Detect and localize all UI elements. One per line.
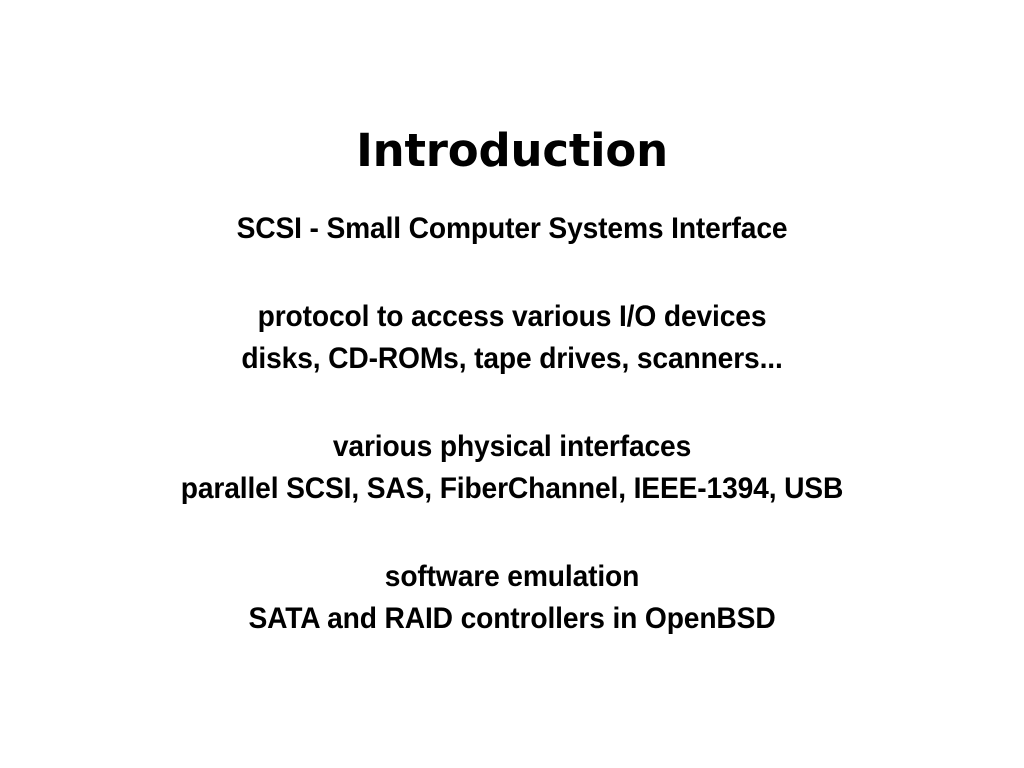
- text-block-definition: SCSI - Small Computer Systems Interface: [0, 208, 1024, 250]
- body-line: disks, CD-ROMs, tape drives, scanners...: [31, 338, 994, 380]
- body-line: SATA and RAID controllers in OpenBSD: [31, 598, 994, 640]
- text-block-software-emulation: software emulation SATA and RAID control…: [0, 556, 1024, 640]
- text-block-physical-interfaces: various physical interfaces parallel SCS…: [0, 426, 1024, 510]
- text-block-purpose: protocol to access various I/O devices d…: [0, 296, 1024, 380]
- slide-body: SCSI - Small Computer Systems Interface …: [0, 208, 1024, 640]
- presentation-slide: Introduction SCSI - Small Computer Syste…: [0, 0, 1024, 768]
- body-line: software emulation: [31, 556, 994, 598]
- body-line: protocol to access various I/O devices: [31, 296, 994, 338]
- page-title: Introduction: [0, 126, 1024, 176]
- body-line: SCSI - Small Computer Systems Interface: [31, 208, 994, 250]
- body-line: various physical interfaces: [31, 426, 994, 468]
- body-line: parallel SCSI, SAS, FiberChannel, IEEE-1…: [31, 468, 994, 510]
